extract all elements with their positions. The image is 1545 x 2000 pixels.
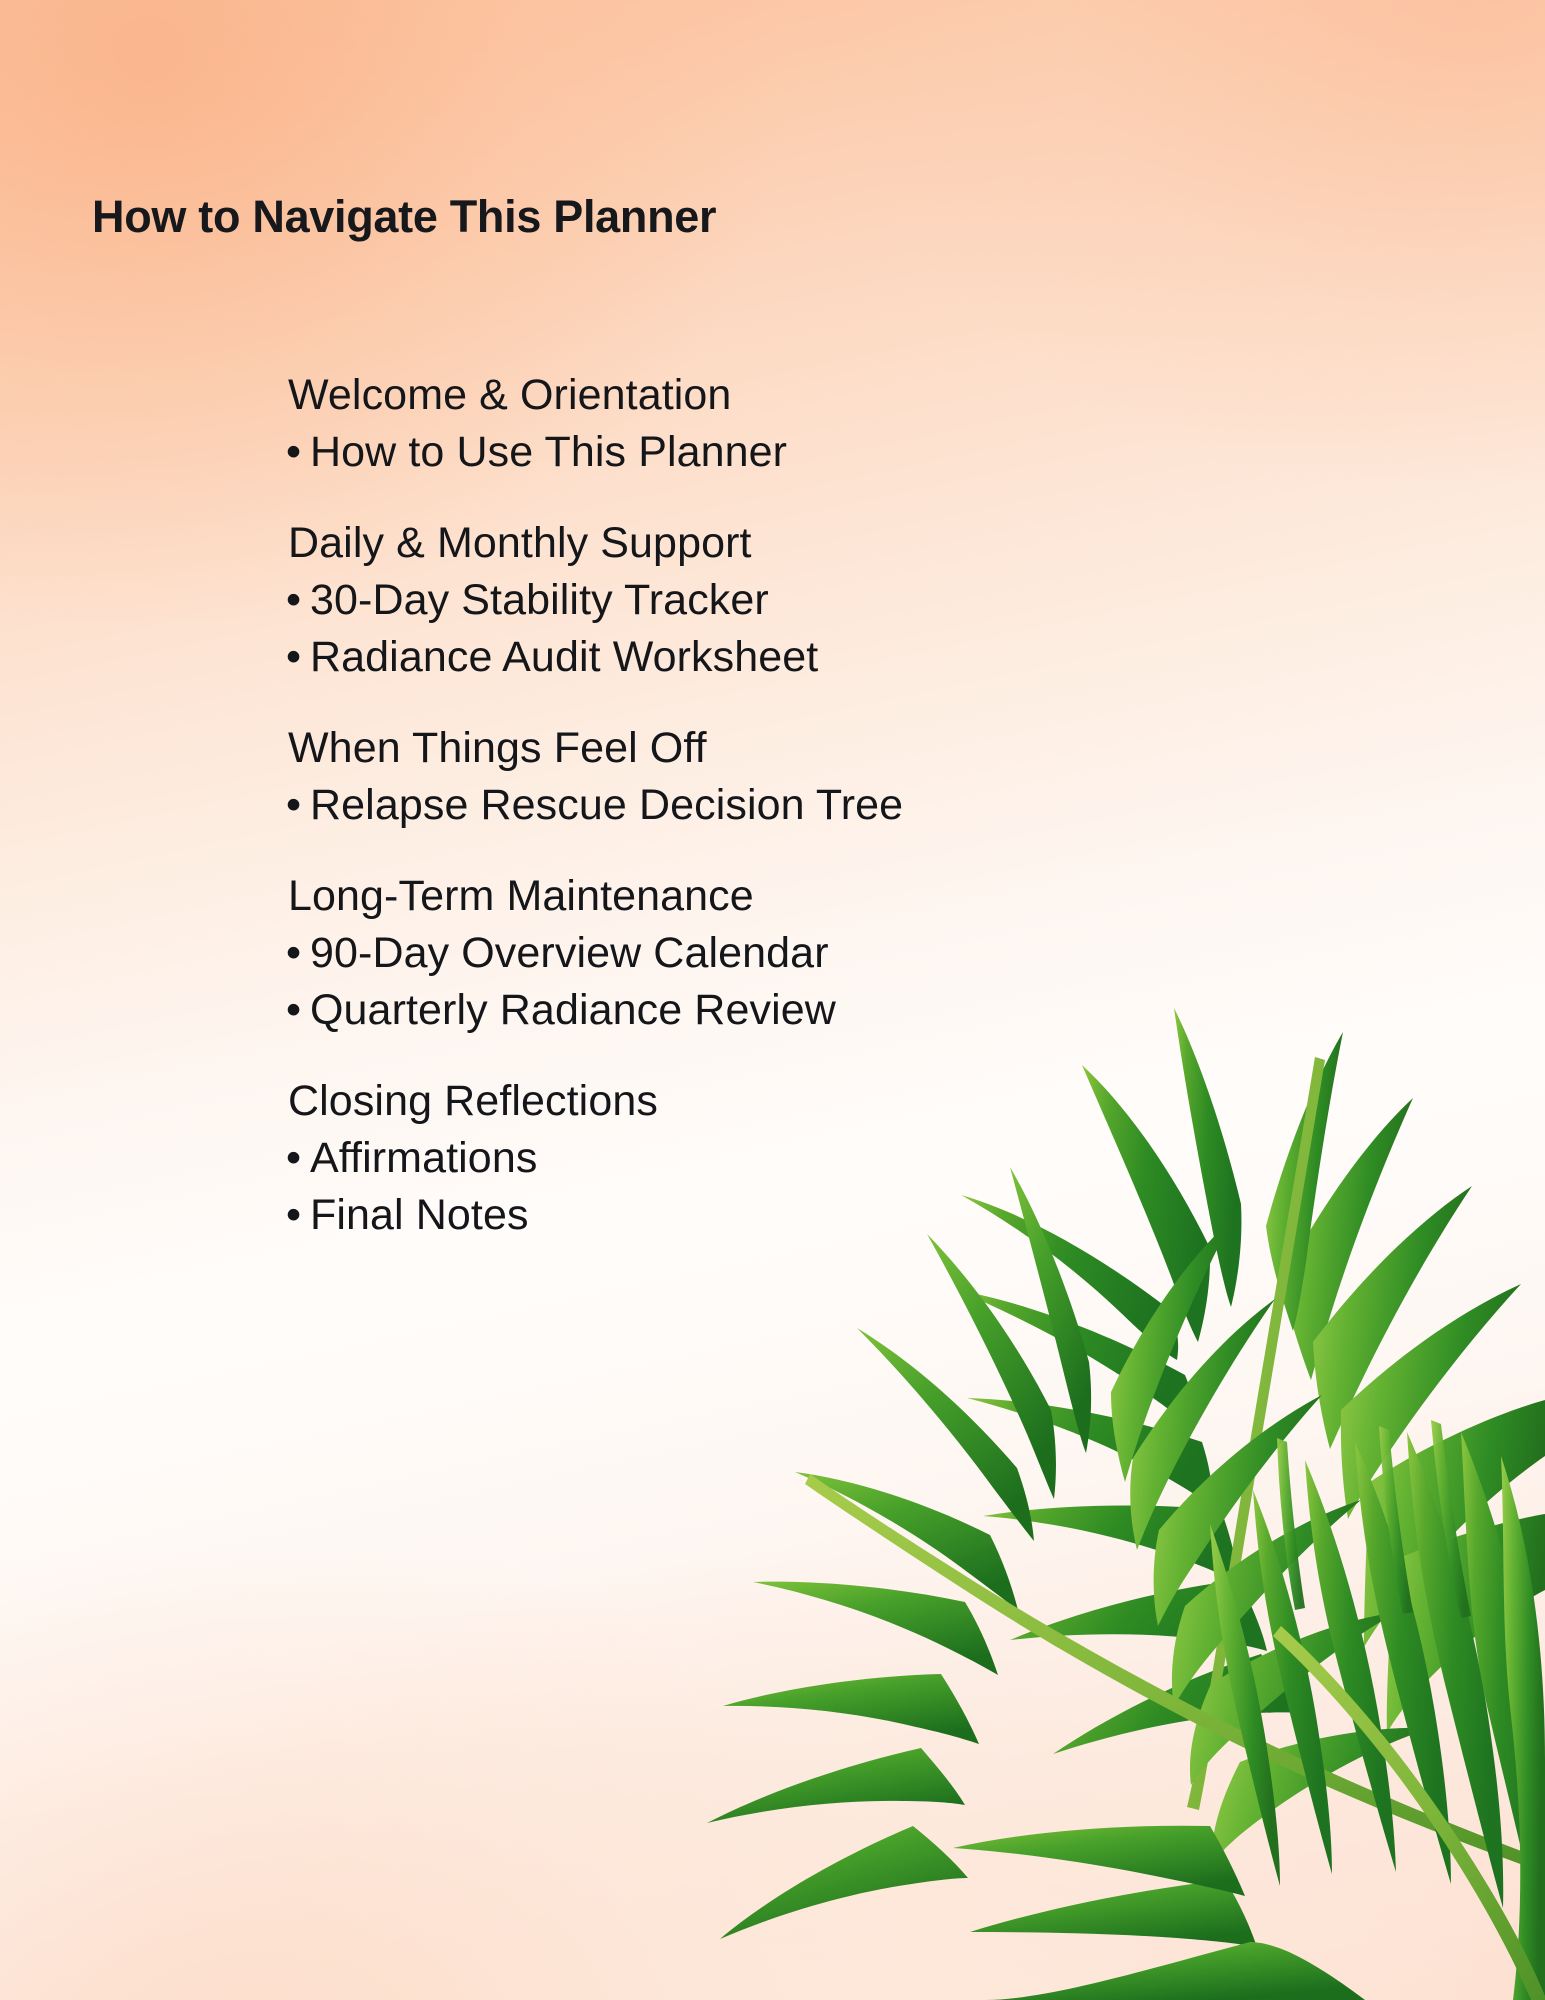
toc-section: When Things Feel Off•Relapse Rescue Deci… — [286, 727, 1346, 827]
toc-entry[interactable]: •90-Day Overview Calendar — [286, 932, 1346, 975]
toc-entry[interactable]: •Final Notes — [286, 1194, 1346, 1237]
toc-entry[interactable]: •Radiance Audit Worksheet — [286, 636, 1346, 679]
toc-entry[interactable]: •Affirmations — [286, 1137, 1346, 1180]
toc-entry-label: Relapse Rescue Decision Tree — [310, 784, 903, 827]
palm-frond-lower — [953, 1420, 1545, 2000]
bullet-icon: • — [286, 932, 310, 975]
background-warm-glow-bottom — [0, 1560, 900, 2000]
toc-entry[interactable]: •Quarterly Radiance Review — [286, 989, 1346, 1032]
bullet-icon: • — [286, 636, 310, 679]
toc-section: Welcome & Orientation•How to Use This Pl… — [286, 374, 1346, 474]
palm-rachis-middle — [805, 1474, 1545, 1872]
bullet-icon: • — [286, 784, 310, 827]
toc-entry[interactable]: •How to Use This Planner — [286, 431, 1346, 474]
toc-entry[interactable]: •30-Day Stability Tracker — [286, 579, 1346, 622]
toc-entry-label: 90-Day Overview Calendar — [310, 932, 829, 975]
bullet-icon: • — [286, 579, 310, 622]
bullet-icon: • — [286, 1137, 310, 1180]
bullet-icon: • — [286, 431, 310, 474]
toc-entry-label: Affirmations — [310, 1137, 537, 1180]
palm-rachis-lower — [1273, 1626, 1545, 2000]
toc-entry-label: 30-Day Stability Tracker — [310, 579, 769, 622]
toc-entry-label: Radiance Audit Worksheet — [310, 636, 818, 679]
toc-section-heading: Closing Reflections — [288, 1080, 1346, 1123]
toc-section: Closing Reflections•Affirmations•Final N… — [286, 1080, 1346, 1237]
bullet-icon: • — [286, 1194, 310, 1237]
page-title: How to Navigate This Planner — [92, 193, 716, 242]
toc-section: Long-Term Maintenance•90-Day Overview Ca… — [286, 875, 1346, 1032]
toc-section-heading: When Things Feel Off — [288, 727, 1346, 770]
bullet-icon: • — [286, 989, 310, 1032]
toc-entry-label: Final Notes — [310, 1194, 529, 1237]
toc-entry[interactable]: •Relapse Rescue Decision Tree — [286, 784, 1346, 827]
toc-entry-label: How to Use This Planner — [310, 431, 787, 474]
palm-frond-middle — [707, 1167, 1545, 1939]
table-of-contents: Welcome & Orientation•How to Use This Pl… — [286, 374, 1346, 1237]
planner-page: How to Navigate This Planner Welcome & O… — [0, 0, 1545, 2000]
toc-section-heading: Long-Term Maintenance — [288, 875, 1346, 918]
toc-section-heading: Welcome & Orientation — [288, 374, 1346, 417]
toc-entry-label: Quarterly Radiance Review — [310, 989, 836, 1032]
toc-section: Daily & Monthly Support•30-Day Stability… — [286, 522, 1346, 679]
toc-section-heading: Daily & Monthly Support — [288, 522, 1346, 565]
